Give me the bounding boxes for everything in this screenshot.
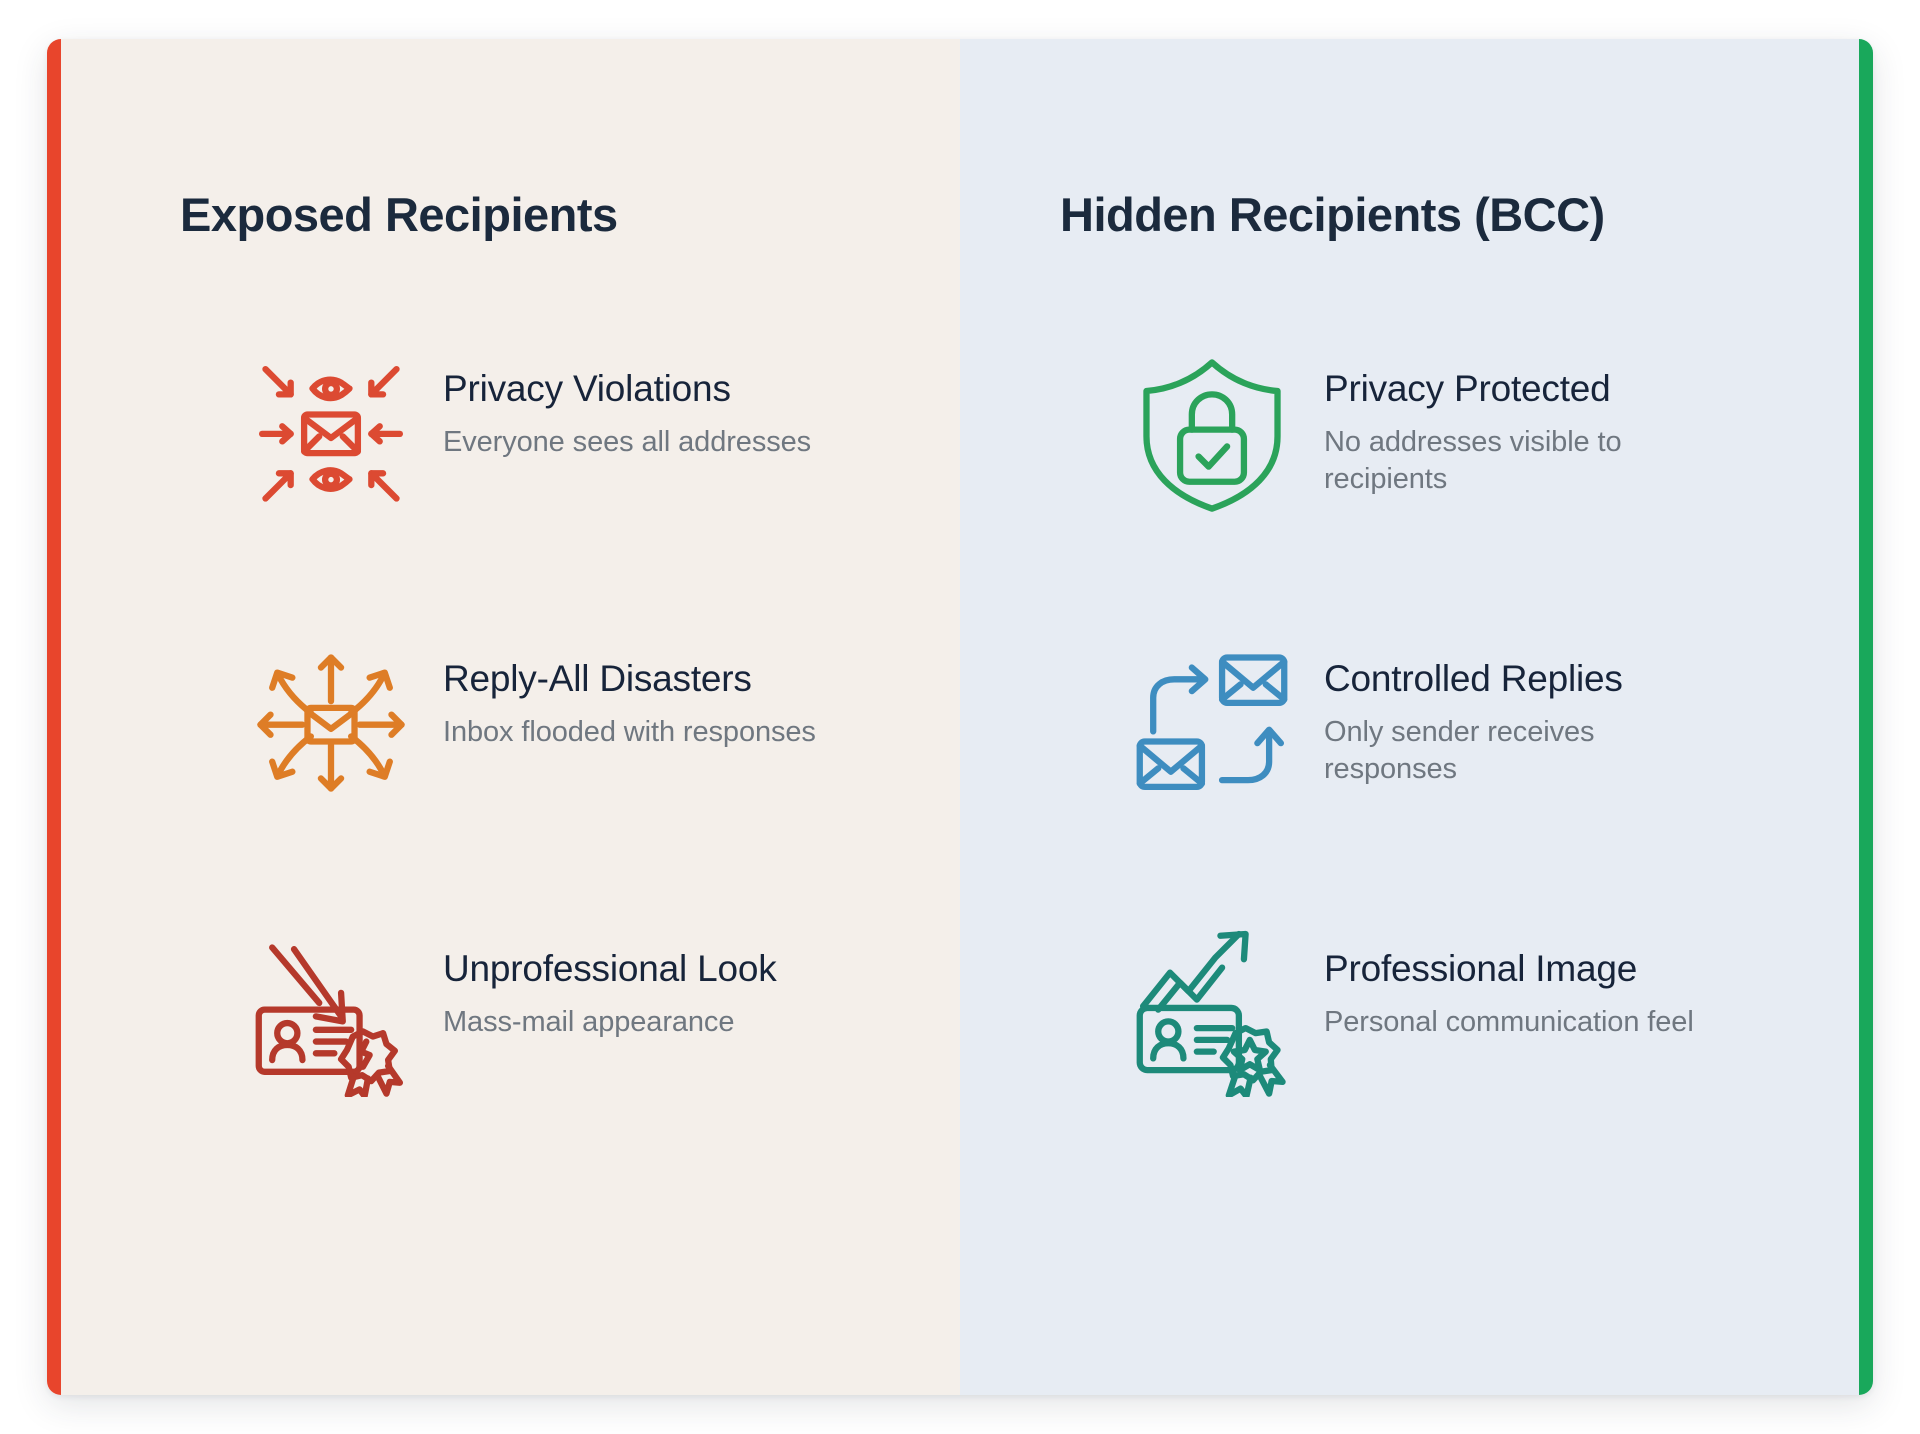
left-panel-title: Exposed Recipients — [180, 189, 960, 241]
row-title: Reply-All Disasters — [443, 657, 816, 701]
id-card-declining-arrow-broken-badge-icon — [247, 929, 415, 1097]
id-card-rising-arrow-award-badge-icon — [1128, 929, 1296, 1097]
row-text-privacy-violations: Privacy Violations Everyone sees all add… — [443, 349, 811, 462]
right-accent-bar — [1859, 39, 1873, 1395]
row-title: Professional Image — [1324, 947, 1694, 991]
envelope-radiating-arrows-icon — [247, 639, 415, 807]
row-privacy-violations: Privacy Violations Everyone sees all add… — [47, 349, 960, 517]
row-subtitle: Personal communication feel — [1324, 1004, 1694, 1041]
row-subtitle: No addresses visible to recipients — [1324, 424, 1716, 498]
row-title: Privacy Protected — [1324, 367, 1716, 411]
row-text-reply-all-disasters: Reply-All Disasters Inbox flooded with r… — [443, 639, 816, 752]
row-subtitle: Only sender receives responses — [1324, 714, 1716, 788]
two-envelopes-curved-arrows-icon — [1128, 639, 1296, 807]
row-professional-image: Professional Image Personal communicatio… — [960, 929, 1873, 1097]
infographic-canvas: Exposed Recipients — [0, 0, 1920, 1434]
row-subtitle: Inbox flooded with responses — [443, 714, 816, 751]
shield-with-lock-check-icon — [1128, 349, 1296, 517]
row-subtitle: Everyone sees all addresses — [443, 424, 811, 461]
right-panel-title: Hidden Recipients (BCC) — [1060, 189, 1873, 241]
row-privacy-protected: Privacy Protected No addresses visible t… — [960, 349, 1873, 517]
left-panel-rows: Privacy Violations Everyone sees all add… — [47, 349, 960, 1097]
row-controlled-replies: Controlled Replies Only sender receives … — [960, 639, 1873, 807]
exposed-recipients-panel: Exposed Recipients — [47, 39, 960, 1395]
row-reply-all-disasters: Reply-All Disasters Inbox flooded with r… — [47, 639, 960, 807]
row-text-controlled-replies: Controlled Replies Only sender receives … — [1324, 639, 1716, 789]
row-text-privacy-protected: Privacy Protected No addresses visible t… — [1324, 349, 1716, 499]
row-title: Privacy Violations — [443, 367, 811, 411]
hidden-recipients-panel: Hidden Recipients (BCC) — [960, 39, 1873, 1395]
left-accent-bar — [47, 39, 61, 1395]
row-text-unprofessional-look: Unprofessional Look Mass-mail appearance — [443, 929, 777, 1042]
comparison-card: Exposed Recipients — [47, 39, 1873, 1395]
envelope-with-eyes-inbound-arrows-icon — [247, 349, 415, 517]
row-text-professional-image: Professional Image Personal communicatio… — [1324, 929, 1694, 1042]
row-unprofessional-look: Unprofessional Look Mass-mail appearance — [47, 929, 960, 1097]
right-panel-rows: Privacy Protected No addresses visible t… — [960, 349, 1873, 1097]
row-subtitle: Mass-mail appearance — [443, 1004, 777, 1041]
row-title: Unprofessional Look — [443, 947, 777, 991]
row-title: Controlled Replies — [1324, 657, 1716, 701]
